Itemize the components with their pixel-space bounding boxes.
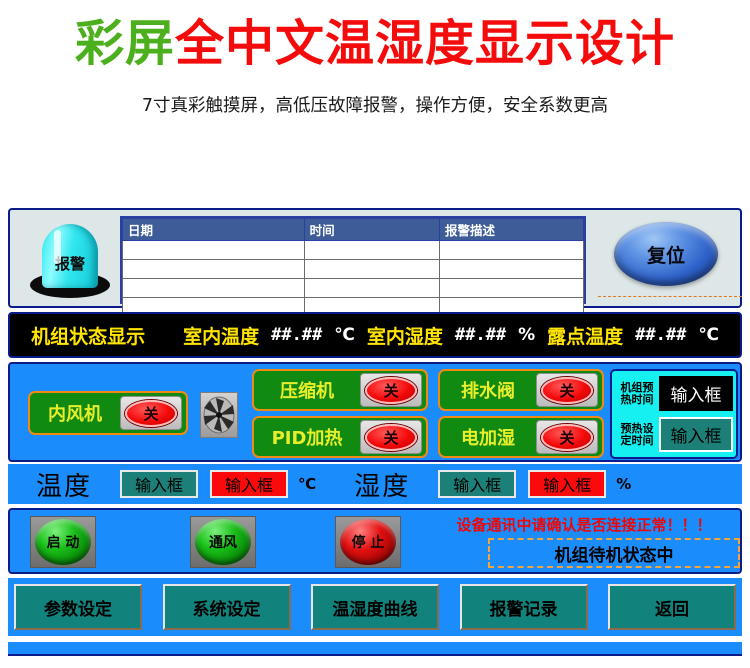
status-unit-dew-point: ℃ [698,325,719,345]
machine-state-text: 机组待机状态中 [555,541,674,566]
setpoint-input-temperature-low[interactable]: 输入框 [120,470,198,498]
column-header-time: 时间 [304,219,439,241]
fan-icon [200,392,238,438]
reset-zone: 复位 [598,210,742,306]
preheat-label-setpoint-line1: 预热设 [615,423,659,435]
device-state-indoor-fan: 关 [143,403,158,424]
reset-button[interactable]: 复位 [614,222,718,286]
cell-description [440,279,584,298]
hmi-screenshot: 彩屏全中文温湿度显示设计 7寸真彩触摸屏，高低压故障报警，操作方便，安全系数更高… [0,0,750,668]
status-unit-indoor-temp: ℃ [334,325,355,345]
page-title-red: 全中文温湿度显示设计 [175,4,675,75]
status-value-dew-point: ##.## [635,325,686,345]
cell-date [123,279,305,298]
setpoint-label-humidity: 湿度 [354,466,410,503]
device-label-drain-valve: 排水阀 [440,377,536,403]
status-label-indoor-humidity: 室内湿度 [367,322,443,349]
device-indicator-pid-heating: 关 [360,420,422,454]
cell-time [304,260,439,279]
alarm-log-table[interactable]: 日期 时间 报警描述 [120,216,586,304]
cell-date [123,241,305,260]
status-bar: 机组状态显示 室内温度 ##.## ℃ 室内湿度 ##.## % 露点温度 ##… [8,312,742,358]
device-indicator-drain-valve: 关 [536,373,598,407]
preheat-input-elapsed[interactable]: 输入框 [659,376,733,411]
device-button-electric-humidifier[interactable]: 电加湿 关 [438,416,604,458]
device-state-electric-humidifier: 关 [559,427,574,448]
preheat-panel: 机组预 热时间 输入框 预热设 定时间 输入框 [610,369,738,459]
alarm-panel: 报警 日期 时间 报警描述 [8,208,742,308]
page-subtitle: 7寸真彩触摸屏，高低压故障报警，操作方便，安全系数更高 [0,92,750,117]
setpoint-row: 温度 输入框 输入框 ℃ 湿度 输入框 输入框 % [8,464,742,504]
device-button-compressor[interactable]: 压缩机 关 [252,369,428,411]
preheat-label-setpoint-line2: 定时间 [615,435,659,447]
divider [598,296,742,297]
status-bar-title: 机组状态显示 [31,322,145,349]
device-indicator-indoor-fan: 关 [120,396,182,430]
screen-bottom-edge [8,642,742,656]
device-state-drain-valve: 关 [559,380,574,401]
preheat-row-setpoint: 预热设 定时间 输入框 [615,416,733,453]
preheat-label-elapsed: 机组预 热时间 [615,382,659,406]
device-state-compressor: 关 [383,380,398,401]
cell-time [304,279,439,298]
device-indicator-compressor: 关 [360,373,422,407]
nav-button-alarm-record[interactable]: 报警记录 [460,584,588,630]
start-button[interactable]: 启 动 [30,516,96,568]
alarm-lamp-dome: 报警 [42,224,98,288]
stop-button[interactable]: 停 止 [335,516,401,568]
page-title: 彩屏全中文温湿度显示设计 [0,0,750,78]
device-label-pid-heating: PID加热 [254,424,360,450]
device-state-pid-heating: 关 [383,427,398,448]
alarm-lamp-highlight [54,230,61,264]
ventilation-button[interactable]: 通风 [190,516,256,568]
status-value-indoor-humidity: ##.## [455,325,506,345]
cell-description [440,241,584,260]
preheat-input-setpoint[interactable]: 输入框 [659,417,733,452]
device-button-drain-valve[interactable]: 排水阀 关 [438,369,604,411]
column-header-description: 报警描述 [440,219,584,241]
device-indicator-electric-humidifier: 关 [536,420,598,454]
preheat-label-setpoint: 预热设 定时间 [615,423,659,447]
communication-warning-text: 设备通讯中请确认是否连接正常！！！ [428,514,740,535]
table-row[interactable] [123,241,584,260]
start-button-label: 启 动 [47,532,80,552]
page-title-green: 彩屏 [75,4,175,75]
ventilation-button-label: 通风 [209,532,237,552]
nav-button-parameter-settings[interactable]: 参数设定 [14,584,142,630]
status-label-dew-point: 露点温度 [547,322,623,349]
setpoint-unit-humidity: % [616,475,631,493]
status-label-indoor-temp: 室内温度 [183,322,259,349]
nav-bar: 参数设定 系统设定 温湿度曲线 报警记录 返回 [8,578,742,636]
device-label-compressor: 压缩机 [254,377,360,403]
device-button-indoor-fan[interactable]: 内风机 关 [28,391,188,435]
alarm-lamp[interactable]: 报警 [28,218,112,302]
table-header-row: 日期 时间 报警描述 [123,219,584,241]
stop-button-label: 停 止 [352,532,385,552]
nav-button-temp-humidity-curve[interactable]: 温湿度曲线 [311,584,439,630]
cell-time [304,241,439,260]
setpoint-unit-temperature: ℃ [298,475,316,493]
device-control-panel: 内风机 关 [8,362,742,462]
device-button-pid-heating[interactable]: PID加热 关 [252,416,428,458]
hmi-screen: 报警 日期 时间 报警描述 [8,208,742,660]
cell-date [123,260,305,279]
action-panel: 启 动 通风 停 止 设备通讯中请确认是否连接正常！！！ 机组待机状态中 [8,508,742,574]
nav-button-back[interactable]: 返回 [608,584,736,630]
device-label-electric-humidifier: 电加湿 [440,424,536,450]
setpoint-label-temperature: 温度 [36,466,92,503]
cell-description [440,260,584,279]
nav-button-system-settings[interactable]: 系统设定 [163,584,291,630]
preheat-row-elapsed: 机组预 热时间 输入框 [615,375,733,412]
machine-state-box: 机组待机状态中 [488,538,740,568]
preheat-label-elapsed-line1: 机组预 [615,382,659,394]
reset-button-label: 复位 [647,241,685,268]
device-label-indoor-fan: 内风机 [30,400,120,426]
table-row[interactable] [123,260,584,279]
status-value-indoor-temp: ##.## [271,325,322,345]
preheat-label-elapsed-line2: 热时间 [615,394,659,406]
setpoint-input-temperature-high[interactable]: 输入框 [210,470,288,498]
table-row[interactable] [123,279,584,298]
column-header-date: 日期 [123,219,305,241]
setpoint-input-humidity-low[interactable]: 输入框 [438,470,516,498]
status-unit-indoor-humidity: % [518,325,535,345]
setpoint-input-humidity-high[interactable]: 输入框 [528,470,606,498]
